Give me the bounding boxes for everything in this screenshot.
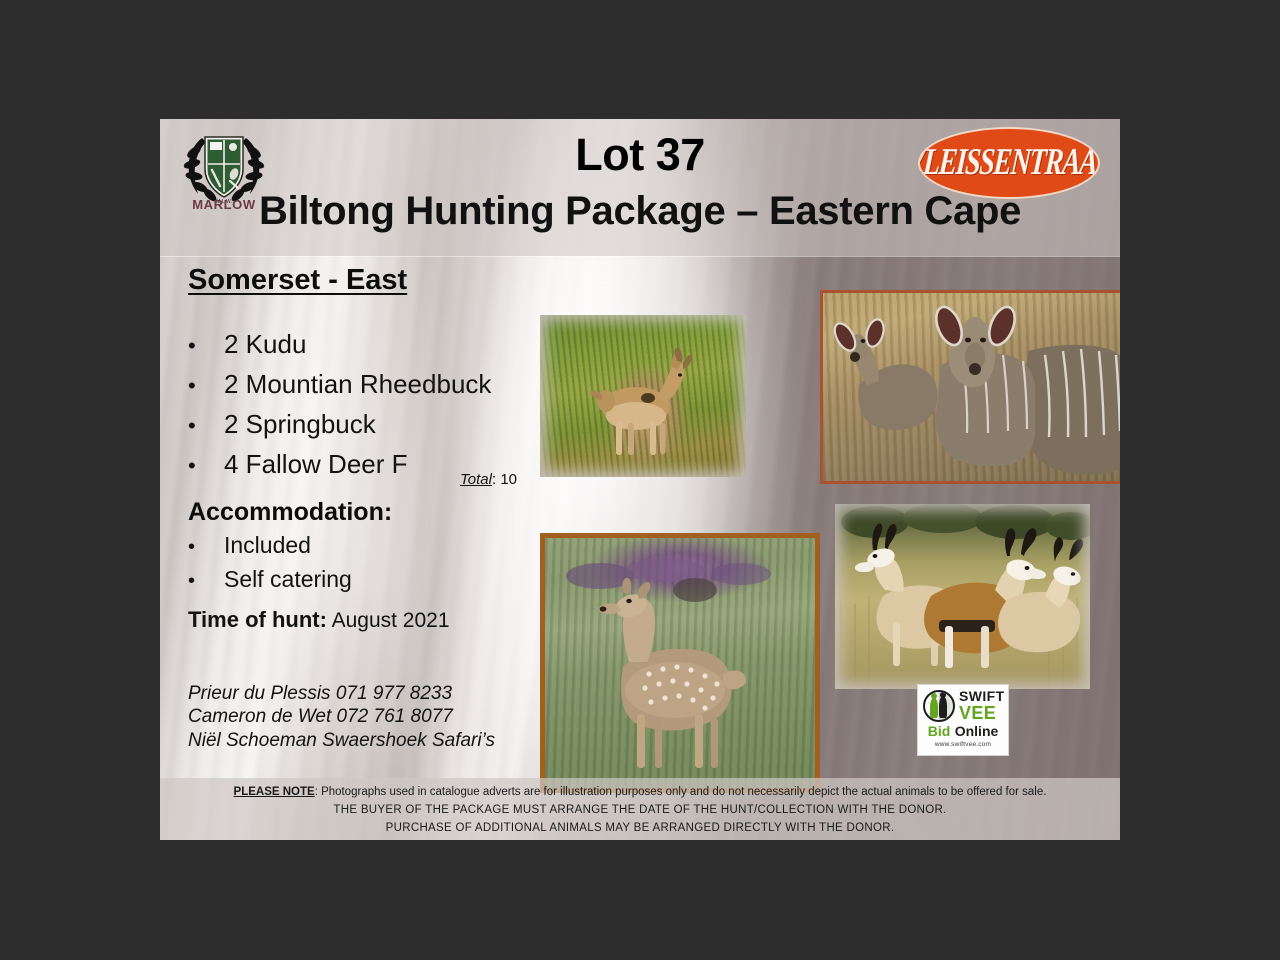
bullet-icon: • bbox=[188, 455, 224, 477]
swiftvee-online-text: Online bbox=[955, 723, 999, 739]
list-item: • 2 Kudu bbox=[188, 329, 491, 360]
accommodation-list: • Included • Self catering bbox=[188, 532, 352, 600]
list-item: • 2 Mountian Rheedbuck bbox=[188, 369, 491, 400]
figure-green-icon bbox=[930, 698, 938, 718]
swiftvee-top-row: SWIFT VEE bbox=[923, 689, 1003, 722]
footer-disclaimer: PLEASE NOTE: Photographs used in catalog… bbox=[160, 784, 1120, 837]
total-value: : 10 bbox=[492, 471, 517, 488]
kudu-figures bbox=[823, 293, 1120, 481]
contact-details: Prieur du Plessis 071 977 8233 Cameron d… bbox=[188, 682, 495, 752]
footer-line-3: PURCHASE OF ADDITIONAL ANIMALS MAY BE AR… bbox=[176, 820, 1104, 838]
swiftvee-tagline: Bid Online bbox=[923, 724, 1003, 740]
vleissentraal-logo-icon: VLEISSENTRAAL bbox=[918, 127, 1100, 199]
footer-line-2: THE BUYER OF THE PACKAGE MUST ARRANGE TH… bbox=[176, 802, 1104, 820]
list-item: • Self catering bbox=[188, 566, 352, 593]
footer-line-1: PLEASE NOTE: Photographs used in catalog… bbox=[176, 784, 1104, 802]
species-label: 4 Fallow Deer F bbox=[224, 449, 408, 480]
reedbuck-figure bbox=[540, 315, 746, 477]
bullet-icon: • bbox=[188, 537, 224, 557]
footer-line-1-text: : Photographs used in catalogue adverts … bbox=[315, 786, 1047, 798]
swiftvee-url[interactable]: www.swiftvee.com bbox=[923, 741, 1003, 748]
location-heading: Somerset - East bbox=[188, 264, 407, 297]
header-divider bbox=[160, 256, 1120, 257]
figure-black-icon bbox=[939, 697, 947, 718]
bullet-icon: • bbox=[188, 415, 224, 437]
swiftvee-swift-text: SWIFT bbox=[959, 689, 1005, 703]
swiftvee-emblem-icon bbox=[923, 690, 955, 722]
list-item: • 4 Fallow Deer F bbox=[188, 449, 491, 480]
photo-kudu bbox=[820, 290, 1120, 484]
photo-springbok bbox=[835, 504, 1090, 689]
presentation-slide: M.L.W. MARLOW Lot 37 Biltong Hunting Pac… bbox=[160, 119, 1120, 840]
springbok-figures bbox=[835, 504, 1090, 689]
photo-mountain-reedbuck bbox=[540, 315, 746, 477]
species-label: 2 Mountian Rheedbuck bbox=[224, 369, 491, 400]
swiftvee-logo[interactable]: SWIFT VEE Bid Online www.swiftvee.com bbox=[917, 684, 1009, 756]
time-of-hunt-label: Time of hunt: bbox=[188, 607, 327, 632]
swiftvee-vee-text: VEE bbox=[959, 704, 1005, 722]
contact-line: Cameron de Wet 072 761 8077 bbox=[188, 705, 495, 728]
accommodation-label: Included bbox=[224, 532, 311, 559]
accommodation-label: Self catering bbox=[224, 566, 352, 593]
vleissentraal-logo-text: VLEISSENTRAAL bbox=[918, 141, 1100, 184]
swiftvee-wordmark: SWIFT VEE bbox=[959, 689, 1005, 722]
list-item: • 2 Springbuck bbox=[188, 409, 491, 440]
species-list: • 2 Kudu • 2 Mountian Rheedbuck • 2 Spri… bbox=[188, 329, 491, 489]
total-label: Total bbox=[460, 471, 492, 488]
fallow-deer-figure bbox=[545, 538, 815, 788]
species-label: 2 Springbuck bbox=[224, 409, 376, 440]
species-total: Total: 10 bbox=[460, 471, 517, 488]
bullet-icon: • bbox=[188, 335, 224, 357]
contact-line: Prieur du Plessis 071 977 8233 bbox=[188, 682, 495, 705]
bullet-icon: • bbox=[188, 571, 224, 591]
time-of-hunt-value: August 2021 bbox=[327, 609, 450, 632]
bullet-icon: • bbox=[188, 375, 224, 397]
list-item: • Included bbox=[188, 532, 352, 559]
please-note-label: PLEASE NOTE bbox=[234, 786, 315, 798]
accommodation-heading: Accommodation: bbox=[188, 498, 392, 527]
swiftvee-bid-text: Bid bbox=[928, 723, 951, 739]
photo-fallow-deer bbox=[540, 533, 820, 793]
slide-footer: PLEASE NOTE: Photographs used in catalog… bbox=[160, 778, 1120, 840]
contact-line: Niël Schoeman Swaershoek Safari’s bbox=[188, 729, 495, 752]
time-of-hunt: Time of hunt: August 2021 bbox=[188, 607, 450, 633]
species-label: 2 Kudu bbox=[224, 329, 306, 360]
